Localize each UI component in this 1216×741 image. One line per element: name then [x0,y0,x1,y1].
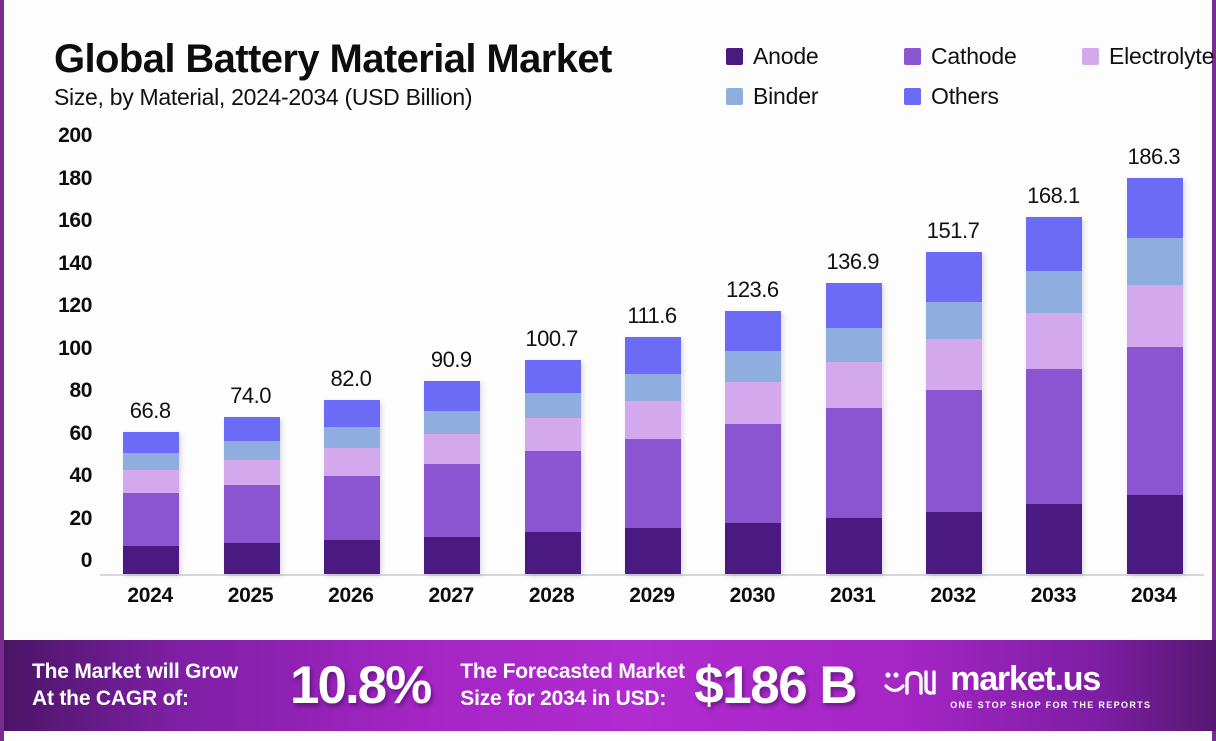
bar-group: 82.0 [301,149,401,574]
bar-segment-others[interactable] [926,252,982,302]
stacked-bar[interactable] [525,360,581,574]
stacked-bar[interactable] [625,337,681,574]
bar-segment-others[interactable] [324,400,380,428]
brand-tagline: ONE STOP SHOP FOR THE REPORTS [950,700,1151,710]
bar-segment-binder[interactable] [926,302,982,340]
bar-total-label: 168.1 [1003,183,1103,209]
y-axis-tick: 200 [22,124,92,148]
bar-segment-others[interactable] [826,283,882,328]
cagr-label: The Market will Grow At the CAGR of: [32,659,282,712]
legend-swatch-cathode [904,48,921,65]
x-axis-tick: 2033 [1003,584,1103,608]
stacked-bar[interactable] [123,432,179,574]
bar-segment-cathode[interactable] [625,439,681,528]
bar-segment-cathode[interactable] [525,451,581,532]
x-axis-tick: 2031 [803,584,903,608]
bar-total-label: 136.9 [803,249,903,275]
bar-segment-electrolyte[interactable] [625,401,681,438]
bar-segment-binder[interactable] [525,393,581,418]
chart-header: Global Battery Material Market Size, by … [4,0,1216,136]
bar-total-label: 82.0 [301,366,401,392]
bar-total-label: 66.8 [100,398,200,424]
y-axis: 020406080100120140160180200 [22,136,92,576]
legend-item-binder[interactable]: Binder [726,83,904,110]
legend-row-2: Binder Others [726,76,1216,116]
stacked-bar[interactable] [424,381,480,574]
bar-segment-cathode[interactable] [424,464,480,537]
bar-segment-binder[interactable] [1127,238,1183,285]
bar-segment-anode[interactable] [224,543,280,574]
footer-banner: The Market will Grow At the CAGR of: 10.… [4,640,1216,731]
bar-group: 100.7 [502,149,602,574]
legend-label-cathode: Cathode [931,43,1017,70]
legend-item-others[interactable]: Others [904,83,1082,110]
bar-segment-binder[interactable] [324,427,380,448]
bar-segment-cathode[interactable] [926,390,982,512]
bar-total-label: 90.9 [401,347,501,373]
x-axis-tick: 2028 [502,584,602,608]
stacked-bar[interactable] [1127,178,1183,574]
x-axis-tick: 2030 [702,584,802,608]
bar-segment-others[interactable] [424,381,480,411]
bar-group: 66.8 [100,149,200,574]
y-axis-tick: 60 [22,422,92,446]
bar-segment-anode[interactable] [1026,504,1082,574]
legend-swatch-binder [726,88,743,105]
bar-segment-others[interactable] [525,360,581,393]
stacked-bar[interactable] [725,311,781,574]
x-axis-tick: 2026 [301,584,401,608]
bar-group: 136.9 [803,149,903,574]
x-axis-tick: 2034 [1104,584,1204,608]
y-axis-tick: 140 [22,252,92,276]
x-axis-tick: 2027 [401,584,501,608]
bar-segment-anode[interactable] [926,512,982,574]
bar-group: 111.6 [602,149,702,574]
x-axis-line [100,574,1204,576]
title-block: Global Battery Material Market Size, by … [54,38,612,111]
bar-segment-others[interactable] [725,311,781,351]
legend-label-others: Others [931,83,999,110]
bar-segment-others[interactable] [123,432,179,453]
page-title: Global Battery Material Market [54,38,612,80]
bar-group: 186.3 [1104,149,1204,574]
legend-row-1: Anode Cathode Electrolyte [726,36,1216,76]
bar-segment-anode[interactable] [725,523,781,574]
bar-segment-anode[interactable] [625,528,681,574]
brand-logo[interactable]: market.us ONE STOP SHOP FOR THE REPORTS [882,662,1151,710]
stacked-bar[interactable] [826,283,882,574]
legend-swatch-electrolyte [1082,48,1099,65]
legend-item-electrolyte[interactable]: Electrolyte [1082,43,1214,70]
y-axis-tick: 40 [22,464,92,488]
bar-segment-binder[interactable] [123,453,179,470]
bar-total-label: 186.3 [1104,144,1204,170]
legend-swatch-others [904,88,921,105]
cagr-value: 10.8% [290,655,430,716]
bar-segment-cathode[interactable] [123,493,179,547]
y-axis-tick: 100 [22,337,92,361]
bar-segment-others[interactable] [1127,178,1183,238]
infographic-chart-page: Global Battery Material Market Size, by … [0,0,1216,741]
x-axis-tick: 2024 [100,584,200,608]
bar-segment-cathode[interactable] [725,424,781,524]
legend-item-cathode[interactable]: Cathode [904,43,1082,70]
bar-total-label: 100.7 [502,326,602,352]
legend-swatch-anode [726,48,743,65]
bar-segment-others[interactable] [1026,217,1082,271]
y-axis-tick: 120 [22,294,92,318]
bar-segment-binder[interactable] [1026,271,1082,313]
bar-segment-anode[interactable] [826,518,882,574]
legend-label-anode: Anode [753,43,819,70]
brand-text: market.us ONE STOP SHOP FOR THE REPORTS [950,662,1151,710]
bar-total-label: 111.6 [602,303,702,329]
y-axis-tick: 20 [22,507,92,531]
bar-segment-electrolyte[interactable] [1026,313,1082,369]
forecast-label: The Forecasted Market Size for 2034 in U… [460,659,690,712]
bar-segment-binder[interactable] [826,328,882,362]
bar-segment-electrolyte[interactable] [725,382,781,423]
brand-name: market.us [950,662,1151,696]
bar-segment-electrolyte[interactable] [224,460,280,485]
y-axis-tick: 180 [22,167,92,191]
bar-group: 168.1 [1003,149,1103,574]
bar-segment-cathode[interactable] [224,485,280,544]
bar-segment-cathode[interactable] [1026,369,1082,504]
stacked-bar[interactable] [324,400,380,574]
bar-group: 74.0 [201,149,301,574]
bar-segment-binder[interactable] [625,374,681,402]
bar-segment-electrolyte[interactable] [324,448,380,476]
x-axis: 2024202520262027202820292030203120322033… [100,584,1204,620]
bar-segment-electrolyte[interactable] [525,418,581,452]
bar-segment-anode[interactable] [324,540,380,574]
bar-segment-electrolyte[interactable] [1127,285,1183,347]
bar-segment-cathode[interactable] [324,476,380,541]
bar-segment-electrolyte[interactable] [424,434,480,464]
y-axis-tick: 160 [22,209,92,233]
legend-label-binder: Binder [753,83,818,110]
x-axis-tick: 2029 [602,584,702,608]
bar-segment-others[interactable] [224,417,280,442]
bar-segment-electrolyte[interactable] [826,362,882,408]
bar-segment-anode[interactable] [123,546,179,574]
x-axis-tick: 2032 [903,584,1003,608]
x-axis-tick: 2025 [201,584,301,608]
y-axis-tick: 0 [22,549,92,573]
bar-segment-anode[interactable] [1127,495,1183,574]
bar-segment-binder[interactable] [725,351,781,382]
bar-total-label: 151.7 [903,218,1003,244]
bar-segment-binder[interactable] [224,441,280,459]
stacked-bar[interactable] [1026,217,1082,574]
market-us-logo-icon [882,666,938,705]
bar-segment-electrolyte[interactable] [123,470,179,493]
bar-segment-anode[interactable] [525,532,581,574]
stacked-bar[interactable] [926,252,982,574]
legend-item-anode[interactable]: Anode [726,43,904,70]
chart-plot-area: 020406080100120140160180200 66.874.082.0… [4,136,1216,626]
y-axis-tick: 80 [22,379,92,403]
legend-label-electrolyte: Electrolyte [1109,43,1214,70]
bar-segment-others[interactable] [625,337,681,374]
bar-segment-electrolyte[interactable] [926,339,982,390]
bar-segment-binder[interactable] [424,411,480,434]
bar-segment-anode[interactable] [424,537,480,574]
page-subtitle: Size, by Material, 2024-2034 (USD Billio… [54,84,612,111]
bar-segment-cathode[interactable] [826,408,882,518]
bar-group: 123.6 [702,149,802,574]
chart-legend: Anode Cathode Electrolyte Binder [726,36,1216,116]
bar-total-label: 123.6 [702,277,802,303]
bars-area: 66.874.082.090.9100.7111.6123.6136.9151.… [100,136,1204,576]
stacked-bar[interactable] [224,417,280,574]
bar-group: 90.9 [401,149,501,574]
forecast-value: $186 B [694,655,856,716]
bar-total-label: 74.0 [201,383,301,409]
bar-group: 151.7 [903,149,1003,574]
bar-segment-cathode[interactable] [1127,347,1183,496]
